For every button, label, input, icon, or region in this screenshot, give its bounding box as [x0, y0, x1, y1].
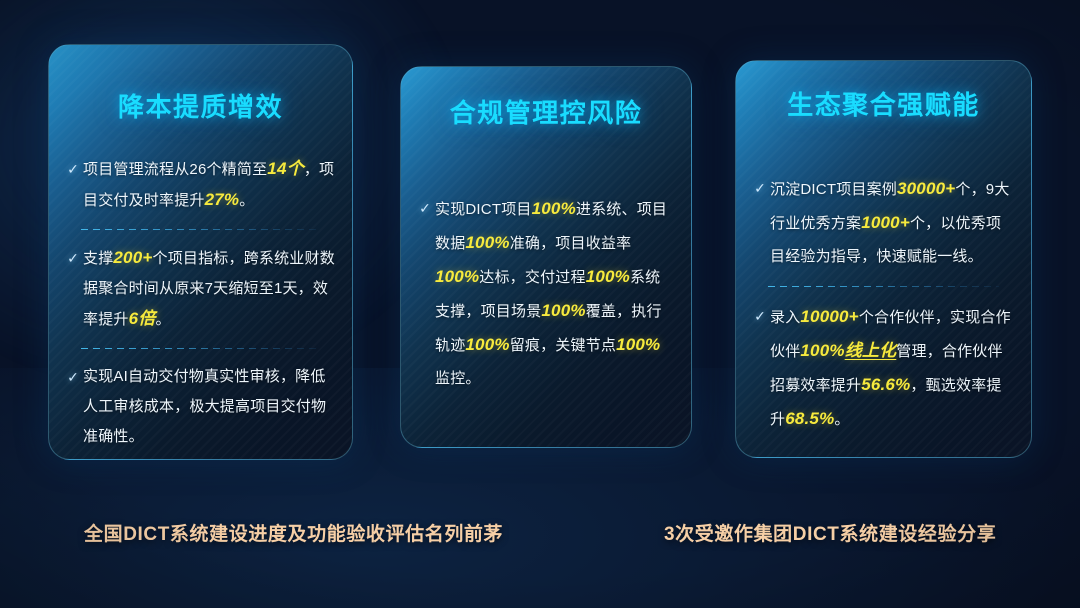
highlight-value: 10000+ — [800, 307, 858, 326]
bullet-item: ✓录入10000+个合作伙伴，实现合作伙伴100%线上化管理，合作伙伴招募效率提… — [750, 300, 1015, 436]
plain-text: 达标，交付过程 — [479, 269, 585, 286]
check-icon: ✓ — [63, 243, 83, 273]
plain-text: 监控。 — [435, 370, 481, 387]
benefit-card-cost-efficiency[interactable]: 降本提质增效 ✓项目管理流程从26个精简至14个，项目交付及时率提升27%。✓支… — [48, 44, 353, 460]
highlight-value: 14个 — [267, 159, 304, 178]
bullet-item: ✓支撑200+个项目指标，跨系统业财数据聚合时间从原来7天缩短至1天，效率提升6… — [63, 243, 336, 335]
bullet-text: 支撑200+个项目指标，跨系统业财数据聚合时间从原来7天缩短至1天，效率提升6倍… — [83, 243, 336, 335]
bullet-divider — [768, 286, 999, 287]
bullet-text: 沉淀DICT项目案例30000+个，9大行业优秀方案1000+个，以优秀项目经验… — [770, 172, 1015, 273]
card-title: 生态聚合强赋能 — [736, 85, 1031, 122]
highlight-value: 100% — [465, 335, 509, 354]
bullet-item: ✓实现DICT项目100%进系统、项目数据100%准确，项目收益率100%达标，… — [415, 192, 675, 395]
highlight-value: 200+ — [113, 248, 152, 267]
bullet-item: ✓沉淀DICT项目案例30000+个，9大行业优秀方案1000+个，以优秀项目经… — [750, 172, 1015, 273]
plain-text: 留痕，关键节点 — [510, 337, 616, 354]
highlight-value: 100% — [435, 267, 479, 286]
bullet-text: 实现AI自动交付物真实性审核，降低人工审核成本，极大提高项目交付物准确性。 — [83, 362, 336, 452]
bullet-text: 录入10000+个合作伙伴，实现合作伙伴100%线上化管理，合作伙伴招募效率提升… — [770, 300, 1015, 436]
highlight-value: 线上化 — [845, 341, 897, 360]
bullet-text: 实现DICT项目100%进系统、项目数据100%准确，项目收益率100%达标，交… — [435, 192, 675, 395]
benefit-card-compliance-risk[interactable]: 合规管理控风险 ✓实现DICT项目100%进系统、项目数据100%准确，项目收益… — [400, 66, 692, 448]
bullet-text: 项目管理流程从26个精简至14个，项目交付及时率提升27%。 — [83, 154, 336, 216]
plain-text: 沉淀DICT项目案例 — [770, 181, 897, 198]
highlight-value: 56.6% — [861, 375, 910, 394]
card-body: ✓项目管理流程从26个精简至14个，项目交付及时率提升27%。✓支撑200+个项… — [49, 154, 352, 452]
card-title: 降本提质增效 — [49, 87, 352, 124]
bullet-divider — [81, 229, 320, 230]
highlight-value: 68.5% — [785, 409, 834, 428]
footer-highlight-left: 全国DICT系统建设进度及功能验收评估名列前茅 — [84, 519, 503, 546]
plain-text: 。 — [834, 411, 849, 428]
plain-text: 准确，项目收益率 — [510, 235, 632, 252]
highlight-value: 6倍 — [129, 309, 156, 328]
highlight-value: 27% — [205, 190, 240, 209]
highlight-value: 100% — [541, 301, 585, 320]
card-body: ✓沉淀DICT项目案例30000+个，9大行业优秀方案1000+个，以优秀项目经… — [736, 172, 1031, 436]
check-icon: ✓ — [63, 154, 83, 184]
plain-text: 。 — [155, 311, 170, 328]
highlight-value: 100% — [465, 233, 509, 252]
card-title: 合规管理控风险 — [401, 93, 691, 130]
benefit-cards-row: 降本提质增效 ✓项目管理流程从26个精简至14个，项目交付及时率提升27%。✓支… — [0, 0, 1080, 470]
card-body: ✓实现DICT项目100%进系统、项目数据100%准确，项目收益率100%达标，… — [401, 192, 691, 395]
check-icon: ✓ — [750, 172, 770, 204]
highlight-value: 100% — [800, 341, 844, 360]
highlight-value: 1000+ — [861, 213, 910, 232]
plain-text: 支撑 — [83, 250, 113, 267]
check-icon: ✓ — [63, 362, 83, 392]
plain-text: 录入 — [770, 309, 800, 326]
check-icon: ✓ — [415, 192, 435, 224]
highlight-value: 100% — [532, 199, 576, 218]
footer-highlights: 全国DICT系统建设进度及功能验收评估名列前茅 3次受邀作集团DICT系统建设经… — [0, 505, 1080, 565]
highlight-value: 100% — [616, 335, 660, 354]
bullet-item: ✓项目管理流程从26个精简至14个，项目交付及时率提升27%。 — [63, 154, 336, 216]
highlight-value: 30000+ — [897, 179, 955, 198]
benefit-card-ecosystem-empowerment[interactable]: 生态聚合强赋能 ✓沉淀DICT项目案例30000+个，9大行业优秀方案1000+… — [735, 60, 1032, 458]
plain-text: 实现AI自动交付物真实性审核，降低人工审核成本，极大提高项目交付物准确性。 — [83, 368, 326, 445]
footer-highlight-right: 3次受邀作集团DICT系统建设经验分享 — [664, 519, 996, 546]
check-icon: ✓ — [750, 300, 770, 332]
bullet-divider — [81, 348, 320, 349]
plain-text: 实现DICT项目 — [435, 201, 532, 218]
plain-text: 。 — [239, 192, 254, 209]
highlight-value: 100% — [586, 267, 630, 286]
plain-text: 项目管理流程从26个精简至 — [83, 161, 267, 178]
bullet-item: ✓实现AI自动交付物真实性审核，降低人工审核成本，极大提高项目交付物准确性。 — [63, 362, 336, 452]
